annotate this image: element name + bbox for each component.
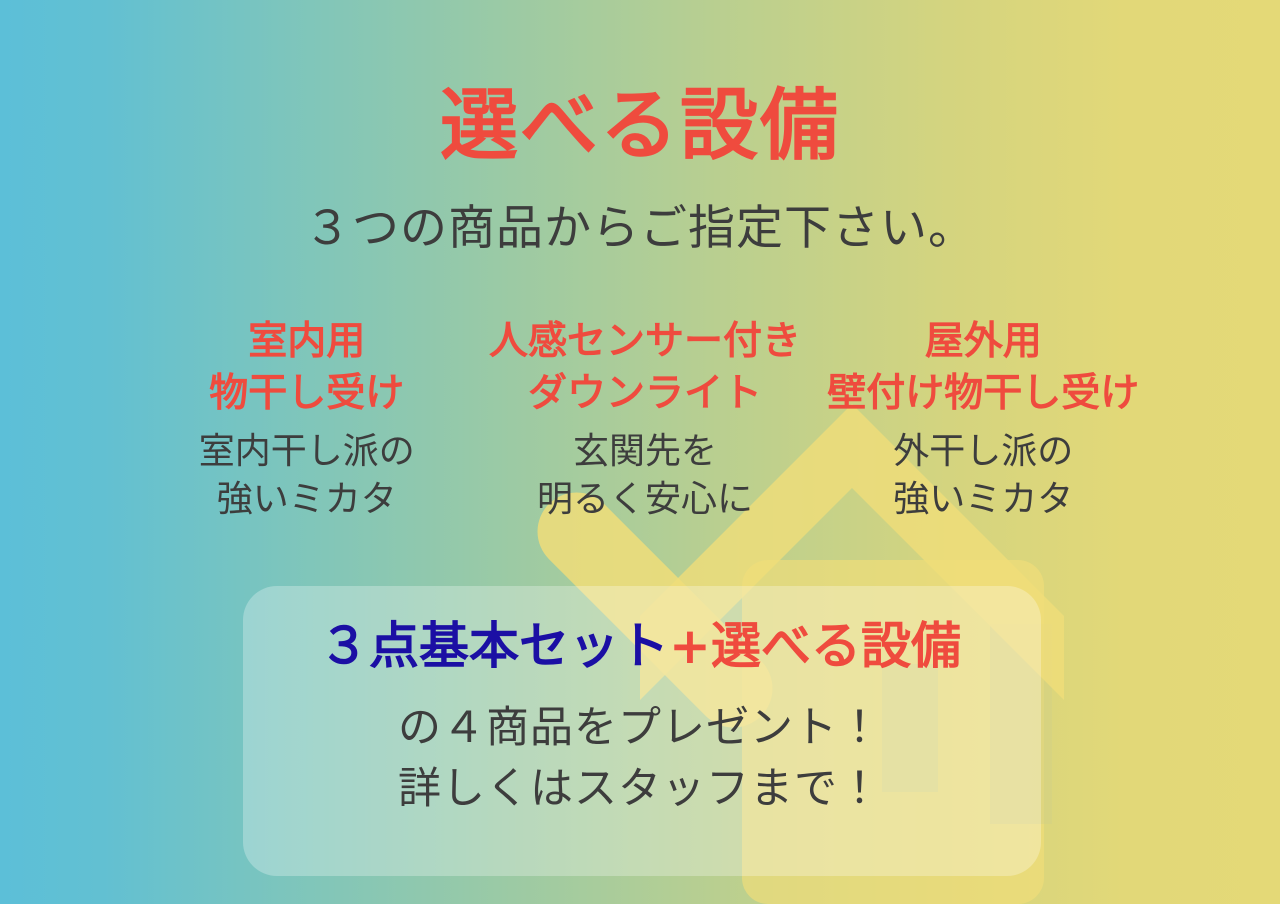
option-title-line-1: 室内用 [140, 316, 473, 368]
option-title-line-1: 人感センサー付き [473, 316, 816, 368]
page-title: 選べる設備 [0, 86, 1280, 168]
promo-body-line-1: の４商品をプレゼント！ [0, 698, 1280, 759]
option-desc-line-1: 玄関先を [473, 428, 816, 477]
option-title-downlight: 人感センサー付き ダウンライト [473, 316, 816, 420]
option-column-outdoor: 屋外用 壁付け物干し受け 外干し派の 強いミカタ [817, 316, 1150, 525]
option-title-line-1: 屋外用 [817, 316, 1150, 368]
option-title-line-2: 物干し受け [140, 368, 473, 420]
promo-body-line-2: 詳しくはスタッフまで！ [0, 759, 1280, 820]
option-desc-outdoor: 外干し派の 強いミカタ [817, 428, 1150, 525]
option-desc-indoor: 室内干し派の 強いミカタ [140, 428, 473, 525]
option-title-indoor: 室内用 物干し受け [140, 316, 473, 420]
option-desc-line-2: 強いミカタ [140, 476, 473, 525]
option-desc-line-2: 強いミカタ [817, 476, 1150, 525]
option-title-outdoor: 屋外用 壁付け物干し受け [817, 316, 1150, 420]
promo-headline-set: ３点基本セット [319, 617, 669, 675]
option-column-indoor: 室内用 物干し受け 室内干し派の 強いミカタ [140, 316, 473, 525]
option-title-line-2: 壁付け物干し受け [817, 368, 1150, 420]
option-title-line-2: ダウンライト [473, 368, 816, 420]
promo-headline-plus: + [669, 617, 711, 675]
option-columns: 室内用 物干し受け 室内干し派の 強いミカタ 人感センサー付き ダウンライト 玄… [140, 316, 1150, 525]
option-desc-line-2: 明るく安心に [473, 476, 816, 525]
page-subtitle: ３つの商品からご指定下さい。 [0, 203, 1280, 255]
option-desc-line-1: 外干し派の [817, 428, 1150, 477]
option-desc-line-1: 室内干し派の [140, 428, 473, 477]
promo-poster: 選べる設備 ３つの商品からご指定下さい。 室内用 物干し受け 室内干し派の 強い… [0, 0, 1280, 904]
promo-body: の４商品をプレゼント！ 詳しくはスタッフまで！ [0, 698, 1280, 820]
option-column-downlight: 人感センサー付き ダウンライト 玄関先を 明るく安心に [473, 316, 816, 525]
promo-headline: ３点基本セット+選べる設備 [0, 618, 1280, 676]
promo-headline-equipment: 選べる設備 [711, 617, 961, 675]
option-desc-downlight: 玄関先を 明るく安心に [473, 428, 816, 525]
